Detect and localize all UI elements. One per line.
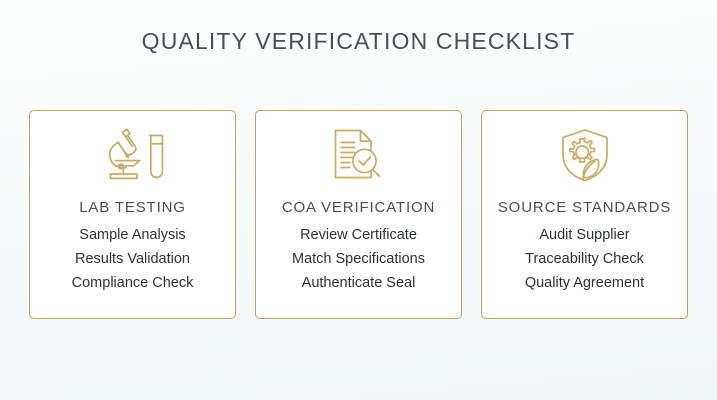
checklist-card-lab-testing[interactable]: LAB TESTING Sample Analysis Results Vali… — [29, 110, 236, 319]
card-item: Review Certificate — [300, 228, 417, 243]
card-items-list: Review Certificate Match Specifications … — [292, 228, 425, 292]
card-heading: SOURCE STANDARDS — [498, 199, 671, 216]
checklist-card-coa-verification[interactable]: COA VERIFICATION Review Certificate Matc… — [255, 110, 462, 319]
card-item: Authenticate Seal — [302, 276, 416, 291]
card-item: Quality Agreement — [525, 276, 644, 291]
card-item: Compliance Check — [72, 276, 194, 291]
card-item: Sample Analysis — [79, 228, 185, 243]
card-item: Results Validation — [75, 252, 190, 267]
infographic-root: QUALITY VERIFICATION CHECKLIST — [0, 0, 717, 400]
card-item: Audit Supplier — [539, 228, 629, 243]
checklist-cards-row: LAB TESTING Sample Analysis Results Vali… — [29, 110, 688, 319]
card-items-list: Sample Analysis Results Validation Compl… — [72, 228, 194, 292]
checklist-card-source-standards[interactable]: SOURCE STANDARDS Audit Supplier Traceabi… — [481, 110, 688, 319]
card-item: Match Specifications — [292, 252, 425, 267]
document-magnifier-check-icon — [326, 125, 392, 187]
card-items-list: Audit Supplier Traceability Check Qualit… — [525, 228, 644, 292]
card-item: Traceability Check — [525, 252, 644, 267]
microscope-test-tube-icon — [97, 125, 169, 187]
card-heading: COA VERIFICATION — [282, 199, 435, 216]
page-title: QUALITY VERIFICATION CHECKLIST — [0, 28, 717, 55]
shield-gear-leaf-icon — [552, 125, 618, 187]
card-heading: LAB TESTING — [79, 199, 186, 216]
